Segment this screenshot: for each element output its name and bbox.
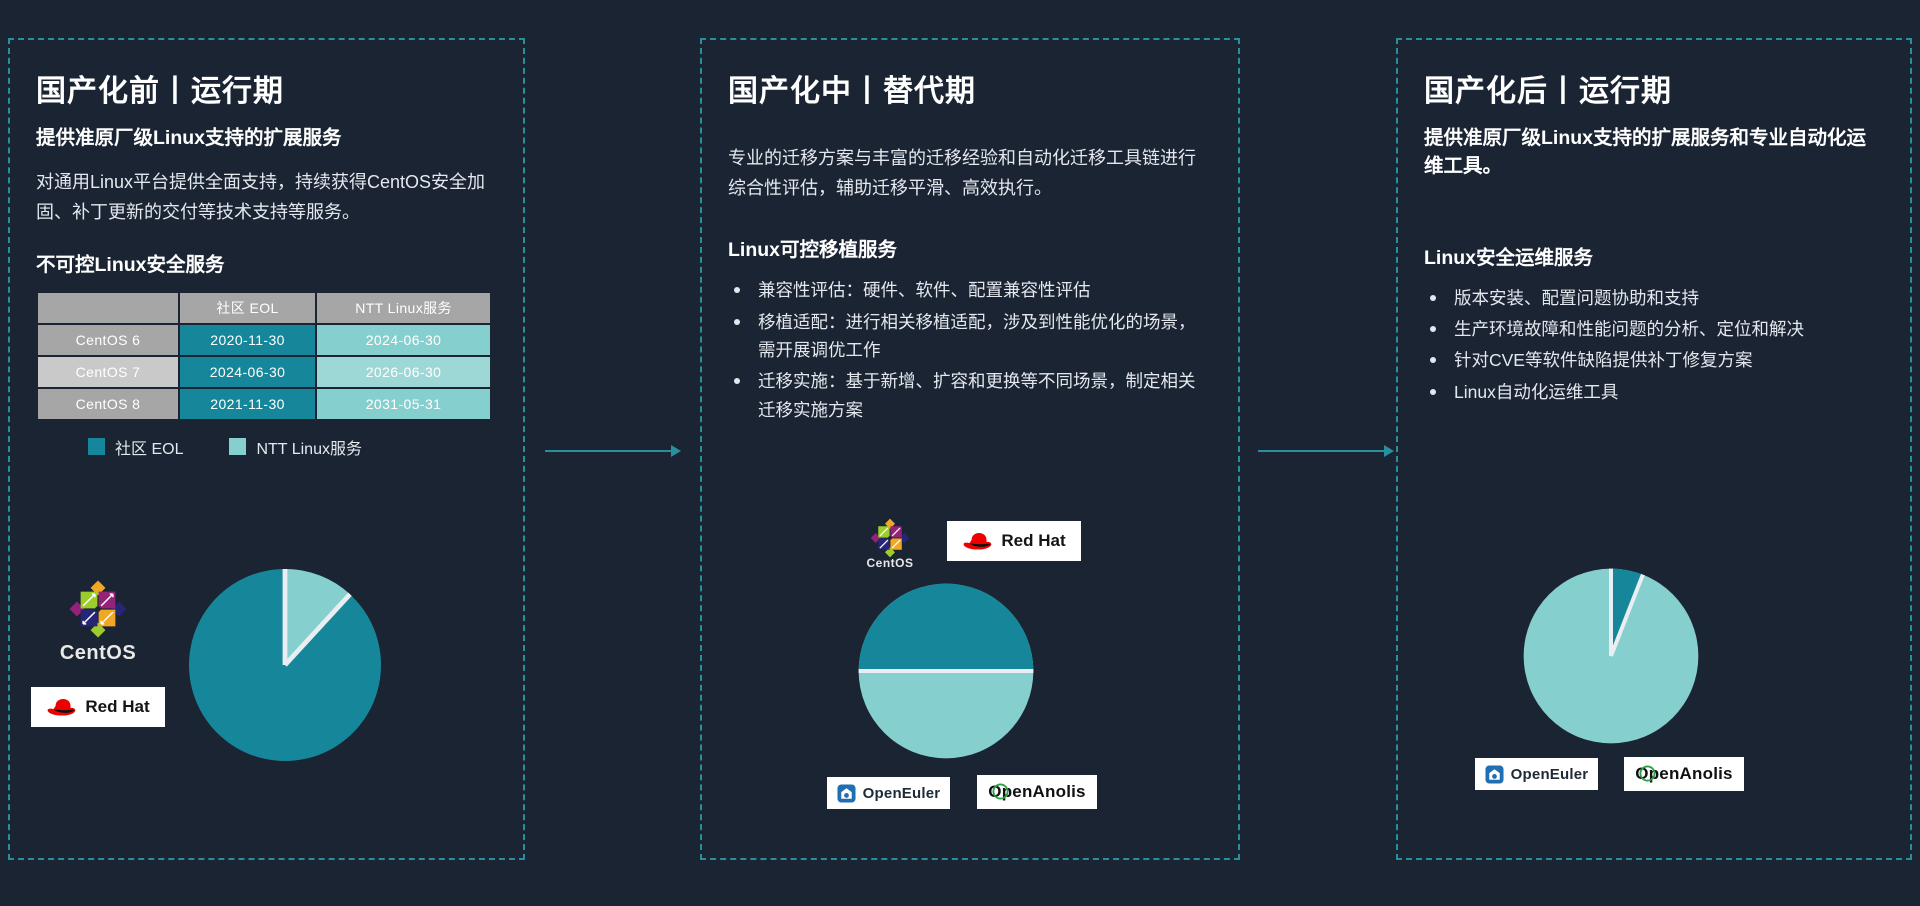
table-cell-ntt: 2026-06-30	[317, 357, 490, 387]
panel-body-text: 对通用Linux平台提供全面支持，持续获得CentOS安全加固、补丁更新的交付等…	[36, 168, 497, 227]
redhat-fedora-icon	[46, 696, 78, 718]
centos-mark-icon	[869, 517, 911, 559]
list-item: 移植适配：进行相关移植适配，涉及到性能优化的场景，需开展调优工作	[728, 308, 1212, 365]
list-item: 生产环境故障和性能问题的分析、定位和解决	[1424, 315, 1884, 343]
infographic-canvas: 国产化前丨运行期 提供准原厂级Linux支持的扩展服务 对通用Linux平台提供…	[0, 0, 1920, 906]
openanolis-mark-icon	[992, 783, 1009, 800]
list-item: Linux自动化运维工具	[1424, 378, 1884, 406]
panel-subtitle: 提供准原厂级Linux支持的扩展服务	[36, 124, 497, 152]
table-cell-os: CentOS 8	[38, 389, 178, 419]
centos-mark-icon	[67, 578, 129, 640]
openeuler-mark-icon	[837, 784, 856, 803]
table-header-eol: 社区 EOL	[180, 293, 315, 323]
table-header-ntt: NTT Linux服务	[317, 293, 490, 323]
legend-item-ntt: NTT Linux服务	[229, 435, 362, 459]
table-cell-os: CentOS 7	[38, 357, 178, 387]
openeuler-logo-label: OpenEuler	[863, 785, 941, 802]
table-cell-eol: 2024-06-30	[180, 357, 315, 387]
panel-title: 国产化中丨替代期	[728, 66, 1212, 110]
bullet-list: 兼容性评估：硬件、软件、配置兼容性评估 移植适配：进行相关移植适配，涉及到性能优…	[728, 276, 1212, 424]
table-cell-eol: 2020-11-30	[180, 325, 315, 355]
openeuler-logo: OpenEuler	[827, 777, 950, 809]
list-item: 迁移实施：基于新增、扩容和更换等不同场景，制定相关迁移实施方案	[728, 367, 1212, 424]
list-item: 针对CVE等软件缺陷提供补丁修复方案	[1424, 346, 1884, 374]
centos-logo: CentOS	[855, 517, 925, 570]
panel-title: 国产化后丨运行期	[1424, 66, 1884, 110]
section-heading: 不可控Linux安全服务	[36, 248, 497, 277]
panel-title: 国产化前丨运行期	[36, 66, 497, 110]
table-cell-os: CentOS 6	[38, 325, 178, 355]
legend-swatch-icon	[88, 438, 105, 455]
redhat-logo-label: Red Hat	[85, 697, 149, 717]
table-row: CentOS 7 2024-06-30 2026-06-30	[38, 357, 490, 387]
openeuler-mark-icon	[1485, 765, 1504, 784]
eol-table: 社区 EOL NTT Linux服务 CentOS 6 2020-11-30 2…	[36, 291, 492, 421]
legend-swatch-icon	[229, 438, 246, 455]
section-heading: Linux安全运维服务	[1424, 241, 1884, 270]
arrow-connector-2	[1258, 444, 1398, 458]
arrow-connector-1	[545, 444, 685, 458]
redhat-fedora-icon	[962, 530, 994, 552]
legend-label: NTT Linux服务	[256, 435, 362, 459]
section-heading: Linux可控移植服务	[728, 233, 1212, 262]
pie-chart-before	[185, 565, 385, 765]
table-cell-ntt: 2024-06-30	[317, 325, 490, 355]
pie-chart-after	[1520, 565, 1702, 747]
centos-logo: CentOS	[48, 578, 148, 665]
redhat-logo-label: Red Hat	[1001, 531, 1065, 551]
openanolis-mark-icon	[1639, 765, 1656, 782]
panel-subtitle: 提供准原厂级Linux支持的扩展服务和专业自动化运维工具。	[1424, 124, 1884, 181]
legend-item-eol: 社区 EOL	[88, 435, 183, 459]
bullet-list: 版本安装、配置问题协助和支持 生产环境故障和性能问题的分析、定位和解决 针对CV…	[1424, 284, 1884, 406]
table-row: CentOS 8 2021-11-30 2031-05-31	[38, 389, 490, 419]
list-item: 版本安装、配置问题协助和支持	[1424, 284, 1884, 312]
chart-legend: 社区 EOL NTT Linux服务	[88, 435, 497, 459]
centos-logo-label: CentOS	[60, 642, 136, 665]
table-cell-ntt: 2031-05-31	[317, 389, 490, 419]
openeuler-logo: OpenEuler	[1475, 758, 1598, 790]
panel-body-text: 专业的迁移方案与丰富的迁移经验和自动化迁移工具链进行综合性评估，辅助迁移平滑、高…	[728, 144, 1212, 203]
table-header-row: 社区 EOL NTT Linux服务	[38, 293, 490, 323]
table-header-blank	[38, 293, 178, 323]
list-item: 兼容性评估：硬件、软件、配置兼容性评估	[728, 276, 1212, 304]
centos-logo-label: CentOS	[866, 556, 913, 570]
table-row: CentOS 6 2020-11-30 2024-06-30	[38, 325, 490, 355]
redhat-logo: Red Hat	[31, 687, 165, 727]
openeuler-logo-label: OpenEuler	[1511, 766, 1589, 783]
redhat-logo: Red Hat	[947, 521, 1081, 561]
table-cell-eol: 2021-11-30	[180, 389, 315, 419]
pie-chart-during	[855, 580, 1037, 762]
legend-label: 社区 EOL	[115, 435, 183, 459]
